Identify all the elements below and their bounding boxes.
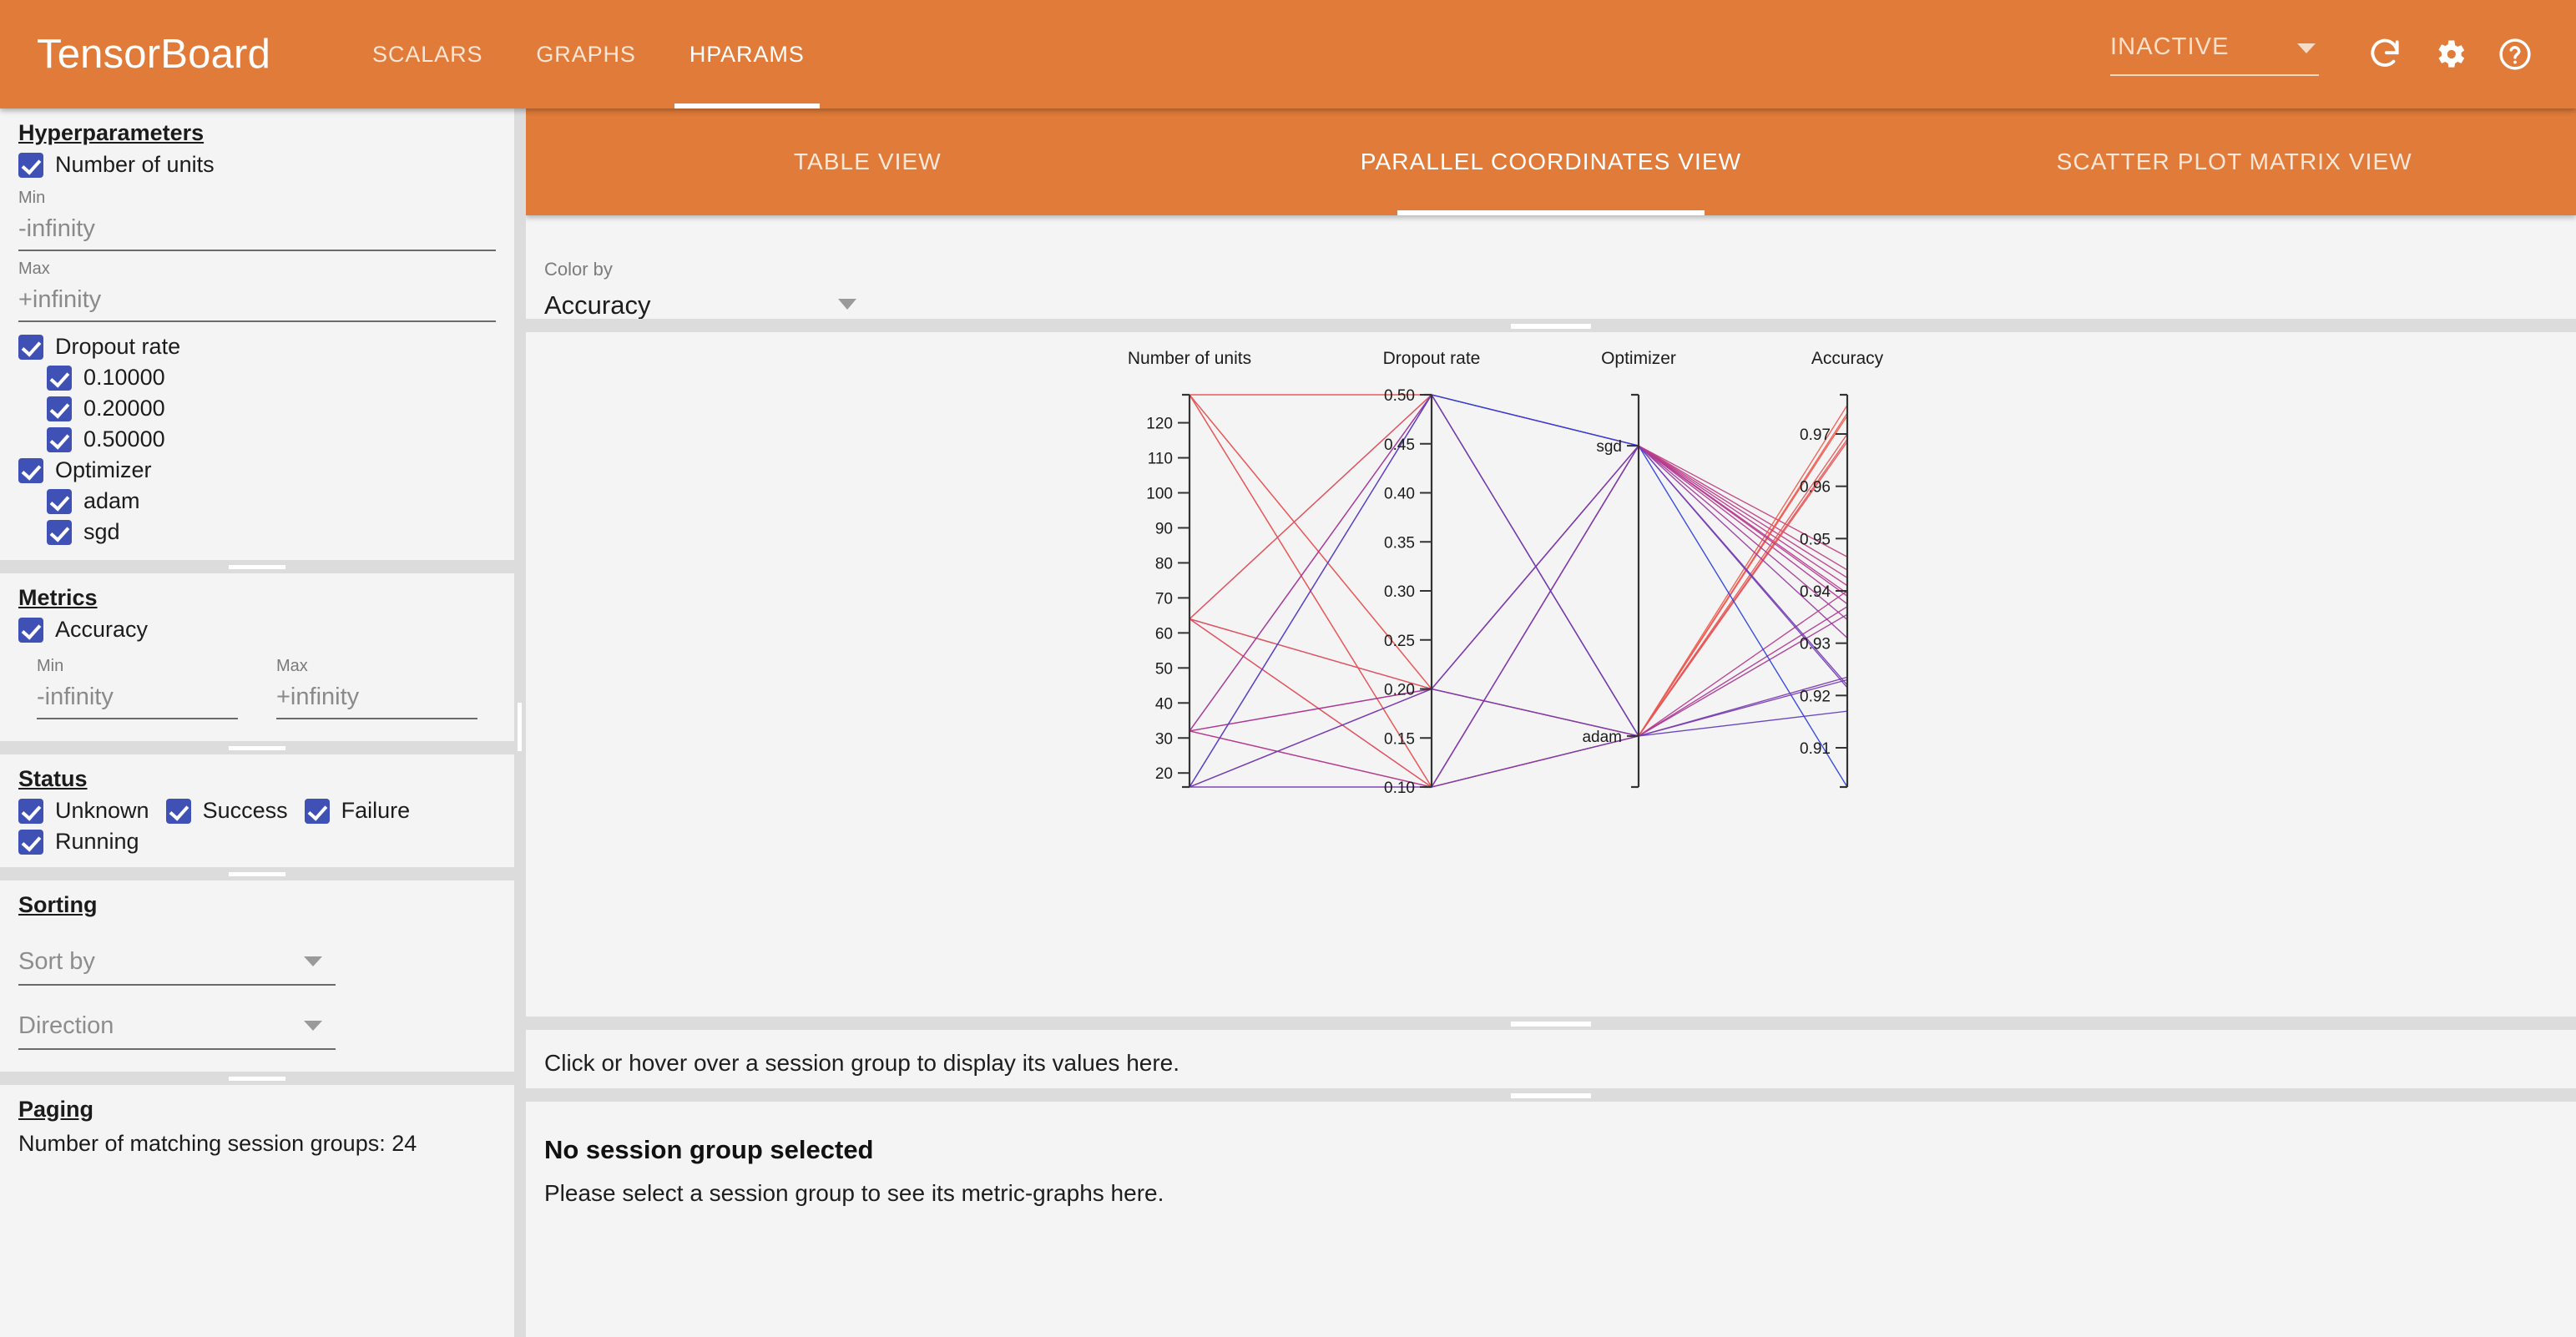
chevron-down-icon [304,956,322,966]
sorting-panel: Sorting Sort by Direction [0,880,514,1072]
session-line[interactable] [1190,395,1847,586]
session-line[interactable] [1190,677,1847,787]
axis-tick-label: 90 [1155,520,1173,537]
axis-tick-label: 0.50 [1384,387,1415,405]
chevron-down-icon [2297,43,2316,53]
checkbox-dropout-0-2[interactable] [47,396,72,421]
hover-values-pane: Click or hover over a session group to d… [526,1030,2576,1088]
session-line[interactable] [1190,446,1847,731]
checkbox-status-unknown[interactable] [18,799,43,824]
session-line[interactable] [1190,395,1847,787]
color-by-label: Color by [544,259,2576,280]
session-line[interactable] [1190,395,1847,787]
checkbox-dropout-0-5[interactable] [47,427,72,452]
accuracy-max-field: Max [276,648,477,719]
hover-pane-divider[interactable] [526,1017,2576,1030]
axis-tick-label: 120 [1146,416,1173,433]
top-nav: SCALARS GRAPHS HPARAMS [346,0,831,108]
axis-tick-label: 0.40 [1384,486,1415,503]
optimizer-value-label: adam [83,488,140,514]
axis-tick-label: 0.35 [1384,534,1415,552]
direction-select[interactable]: Direction [18,1007,336,1050]
session-line[interactable] [1190,446,1847,787]
dropout-value-label: 0.50000 [83,426,165,452]
axis-tick-label: adam [1582,729,1622,746]
axis-tick-label: 50 [1155,660,1173,678]
checkbox-optimizer[interactable] [18,458,43,483]
axis-tick-label: 70 [1155,590,1173,608]
session-group-pane: No session group selected Please select … [526,1102,2576,1207]
session-line[interactable] [1190,395,1847,736]
axis-tick-label: 40 [1155,695,1173,713]
axis-tick-label: 0.96 [1800,479,1831,497]
axis-tick-label: 0.30 [1384,583,1415,601]
help-icon[interactable] [2483,22,2548,87]
axis-tick-label: 0.97 [1800,426,1831,444]
session-group-subtitle: Please select a session group to see its… [544,1165,2558,1207]
axis-tick-label: 0.10 [1384,779,1415,797]
sidebar-divider-sorting[interactable] [0,1072,514,1085]
run-state-select[interactable]: INACTIVE [2110,33,2319,76]
sidebar-resize-handle[interactable] [514,108,526,1337]
status-item-failure[interactable]: Failure [305,795,411,826]
run-state-value: INACTIVE [2110,33,2230,60]
refresh-icon[interactable] [2352,22,2417,87]
optimizer-value-label: sgd [83,519,120,545]
hyperparameters-panel: Hyperparameters Number of units Min Max … [0,108,514,560]
axis-tick-label: 110 [1148,451,1173,468]
sort-by-field: Sort by [18,921,496,986]
session-line[interactable] [1190,446,1847,787]
axis-tick-label: 0.45 [1384,436,1415,454]
metrics-title: Metrics [18,573,496,614]
status-label: Success [203,798,288,824]
session-line[interactable] [1190,446,1847,787]
sort-by-value: Sort by [18,948,95,975]
session-line[interactable] [1190,591,1847,787]
hparam-number-of-units-label: Number of units [55,152,215,178]
status-item-running[interactable]: Running [18,826,139,857]
dropout-value-label: 0.10000 [83,365,165,391]
metrics-panel: Metrics Accuracy Min Max [0,573,514,741]
top-bar-actions: INACTIVE [2110,22,2576,87]
axis-tick-label: 0.25 [1384,633,1415,650]
checkbox-status-success[interactable] [166,799,191,824]
session-line[interactable] [1190,446,1847,787]
units-max-field: Max [18,251,496,322]
checkbox-status-failure[interactable] [305,799,330,824]
axis-tick-label: 0.91 [1800,740,1831,758]
optimizer-value-row[interactable]: sgd [18,517,496,560]
axis-title: Dropout rate [1383,349,1481,368]
axis-tick-label: 0.94 [1800,583,1831,601]
sorting-title: Sorting [18,880,496,921]
units-min-label: Min [18,189,496,207]
tab-scatter-plot-matrix-view[interactable]: SCATTER PLOT MATRIX VIEW [1892,108,2576,215]
checkbox-status-running[interactable] [18,830,43,855]
accuracy-max-label: Max [276,657,477,675]
paging-title: Paging [18,1085,496,1126]
parallel-coordinates-svg: Number of units2030405060708090100110120… [526,332,2576,1017]
chevron-down-icon [304,1021,322,1031]
axis-tick-label: 0.20 [1384,682,1415,699]
hparam-optimizer-row[interactable]: Optimizer [18,455,496,486]
color-by-value: Accuracy [544,290,650,320]
axis-tick-label: 20 [1155,765,1173,783]
axis-tick-label: 0.15 [1384,730,1415,748]
dropout-value-row[interactable]: 0.50000 [18,424,496,455]
units-min-input[interactable] [18,207,496,251]
status-checkbox-group: Unknown Success Failure Running [18,795,496,867]
axis-tick-label: 0.92 [1800,688,1831,705]
session-group-title: No session group selected [544,1135,2558,1165]
sidebar-divider-hyperparameters[interactable] [0,560,514,573]
axis-tick-label: 60 [1155,625,1173,643]
axis-tick-label: 0.93 [1800,636,1831,653]
left-sidebar: Hyperparameters Number of units Min Max … [0,108,514,1337]
session-line[interactable] [1190,395,1847,787]
accuracy-min-label: Min [37,657,238,675]
nav-item-hparams[interactable]: HPARAMS [663,0,831,108]
axis-tick-label: sgd [1596,438,1622,456]
axis-tick-label: 30 [1155,730,1173,748]
session-line[interactable] [1190,680,1847,787]
accuracy-range-fields: Min Max [18,645,496,741]
units-max-label: Max [18,260,496,278]
metric-accuracy-label: Accuracy [55,617,148,643]
accuracy-max-input[interactable] [276,675,477,719]
axis-title: Optimizer [1601,349,1676,368]
axis-title: Number of units [1128,349,1251,368]
checkbox-optimizer-adam[interactable] [47,489,72,514]
status-item-success[interactable]: Success [166,795,288,826]
units-min-field: Min [18,180,496,251]
checkbox-metric-accuracy[interactable] [18,618,43,643]
nav-item-scalars[interactable]: SCALARS [346,0,509,108]
status-panel: Status Unknown Success Failure Running [0,754,514,867]
axis-title: Accuracy [1811,349,1884,368]
dropout-value-row[interactable]: 0.10000 [18,362,496,393]
axis-tick-label: 100 [1146,486,1173,503]
axis-tick-label: 0.95 [1800,531,1831,548]
gear-icon[interactable] [2417,22,2483,87]
units-max-input[interactable] [18,278,496,322]
color-by-control: Color by Accuracy [526,215,2576,319]
direction-value: Direction [18,1012,114,1039]
chart-top-divider[interactable] [526,319,2576,332]
top-app-bar: TensorBoard SCALARS GRAPHS HPARAMS INACT… [0,0,2576,108]
session-line[interactable] [1190,395,1847,619]
hparam-number-of-units-row[interactable]: Number of units [18,149,496,180]
optimizer-value-row[interactable]: adam [18,486,496,517]
status-title: Status [18,754,496,795]
paging-panel: Paging Number of matching session groups… [0,1085,514,1168]
hparam-optimizer-label: Optimizer [55,457,152,483]
nav-item-graphs[interactable]: GRAPHS [509,0,662,108]
chevron-down-icon [838,299,856,310]
dropout-value-row[interactable]: 0.20000 [18,393,496,424]
status-item-unknown[interactable]: Unknown [18,795,149,826]
app-brand: TensorBoard [37,31,270,78]
checkbox-dropout-0-1[interactable] [47,366,72,391]
checkbox-optimizer-sgd[interactable] [47,520,72,545]
status-label: Failure [341,798,411,824]
checkbox-dropout-rate[interactable] [18,335,43,360]
matching-session-groups-count: Number of matching session groups: 24 [18,1126,496,1168]
axis-tick-label: 80 [1155,555,1173,573]
checkbox-number-of-units[interactable] [18,153,43,178]
hparam-dropout-rate-label: Dropout rate [55,334,180,360]
sidebar-divider-metrics[interactable] [0,741,514,754]
tab-parallel-coordinates-view[interactable]: PARALLEL COORDINATES VIEW [1210,108,1893,215]
parallel-coordinates-chart[interactable]: Number of units2030405060708090100110120… [526,332,2576,1017]
dropout-value-label: 0.20000 [83,396,165,421]
accuracy-min-field: Min [37,648,238,719]
status-label: Unknown [55,798,149,824]
session-line[interactable] [1190,441,1847,787]
sort-by-select[interactable]: Sort by [18,943,336,986]
session-line[interactable] [1190,395,1847,787]
hover-hint-text: Click or hover over a session group to d… [544,1050,2558,1077]
status-label: Running [55,829,139,855]
session-group-divider[interactable] [526,1088,2576,1102]
hyperparameters-title: Hyperparameters [18,108,496,149]
accuracy-min-input[interactable] [37,675,238,719]
axis-number-of-units[interactable]: Number of units2030405060708090100110120 [1128,349,1251,787]
view-tabs: TABLE VIEW PARALLEL COORDINATES VIEW SCA… [526,108,2576,215]
metric-accuracy-row[interactable]: Accuracy [18,614,496,645]
direction-field: Direction [18,986,496,1072]
hparam-dropout-rate-row[interactable]: Dropout rate [18,322,496,362]
main-content: TABLE VIEW PARALLEL COORDINATES VIEW SCA… [526,108,2576,1337]
sidebar-divider-status[interactable] [0,867,514,880]
session-line[interactable] [1190,395,1847,731]
tab-table-view[interactable]: TABLE VIEW [526,108,1210,215]
